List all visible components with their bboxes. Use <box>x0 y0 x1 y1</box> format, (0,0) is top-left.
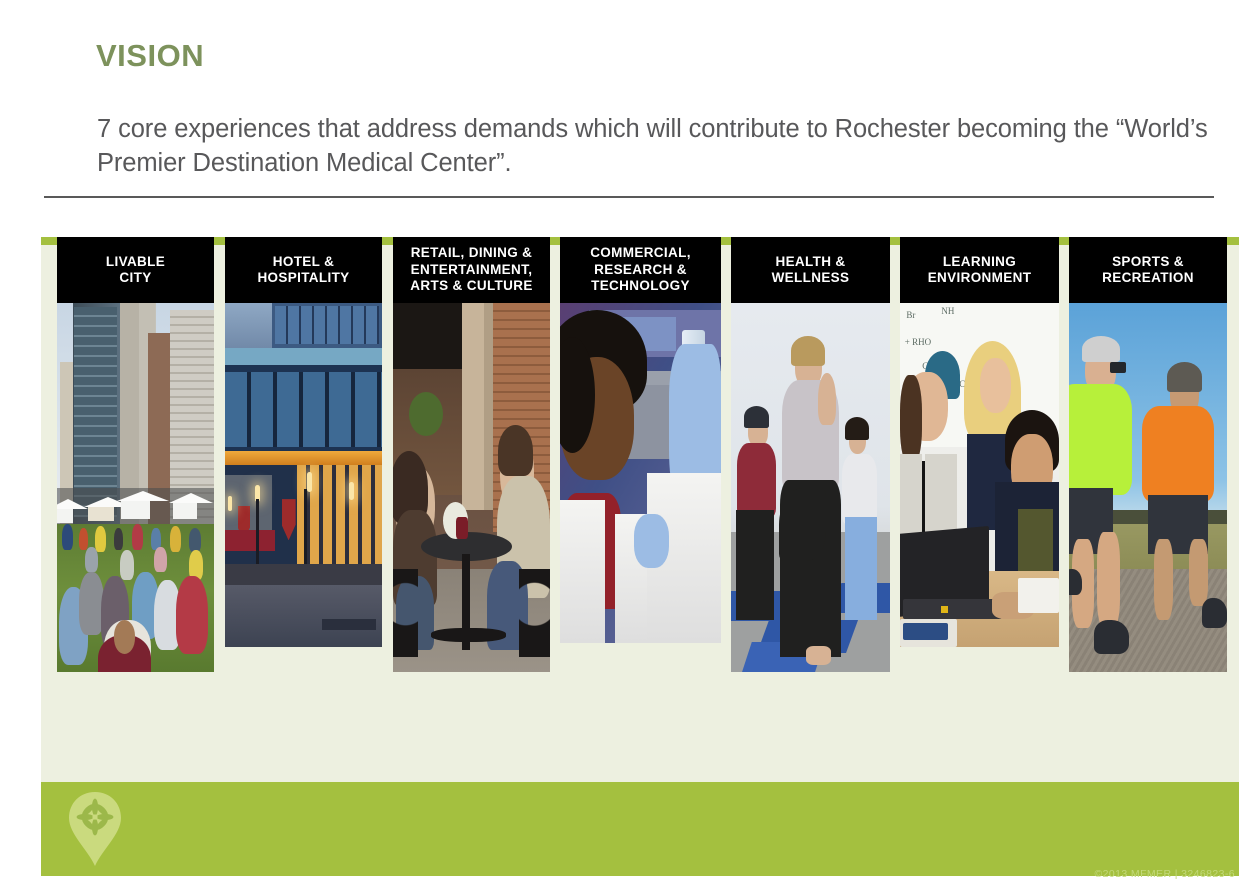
experience-column-sports-recreation[interactable]: SPORTS & RECREATION <box>1069 237 1227 672</box>
column-header-retail-dining: RETAIL, DINING & ENTERTAINMENT, ARTS & C… <box>393 237 550 303</box>
column-image-learning-environment: Br + RHO NH C−N O=C <box>900 303 1059 647</box>
page-subtitle: 7 core experiences that address demands … <box>97 112 1217 180</box>
column-header-hotel-hospitality: HOTEL & HOSPITALITY <box>225 237 382 303</box>
mayo-clinic-pin-logo-icon <box>64 790 126 868</box>
page-title: VISION <box>96 38 204 74</box>
column-header-livable-city: LIVABLE CITY <box>57 237 214 303</box>
column-header-learning-environment: LEARNING ENVIRONMENT <box>900 237 1059 303</box>
column-header-commercial-research: COMMERCIAL, RESEARCH & TECHNOLOGY <box>560 237 721 303</box>
experience-column-livable-city[interactable]: LIVABLE CITY <box>57 237 214 672</box>
experiences-panel: LIVABLE CITY <box>41 237 1239 782</box>
column-image-hotel-hospitality <box>225 303 382 647</box>
column-header-health-wellness: HEALTH & WELLNESS <box>731 237 890 303</box>
experience-column-retail-dining[interactable]: RETAIL, DINING & ENTERTAINMENT, ARTS & C… <box>393 237 550 672</box>
experience-column-learning-environment[interactable]: LEARNING ENVIRONMENT Br + RHO NH C−N O=C <box>900 237 1059 647</box>
experience-column-health-wellness[interactable]: HEALTH & WELLNESS <box>731 237 890 672</box>
footer-bar <box>41 782 1239 876</box>
header-divider <box>44 196 1214 198</box>
column-image-sports-recreation <box>1069 303 1227 672</box>
column-image-livable-city <box>57 303 214 672</box>
column-image-health-wellness <box>731 303 890 672</box>
column-header-sports-recreation: SPORTS & RECREATION <box>1069 237 1227 303</box>
copyright-credit: ©2013 MFMER | 3246823-6 <box>1095 868 1235 880</box>
column-image-commercial-research <box>560 303 721 643</box>
column-image-retail-dining <box>393 303 550 672</box>
experience-column-hotel-hospitality[interactable]: HOTEL & HOSPITALITY <box>225 237 382 647</box>
experience-column-commercial-research[interactable]: COMMERCIAL, RESEARCH & TECHNOLOGY <box>560 237 721 643</box>
